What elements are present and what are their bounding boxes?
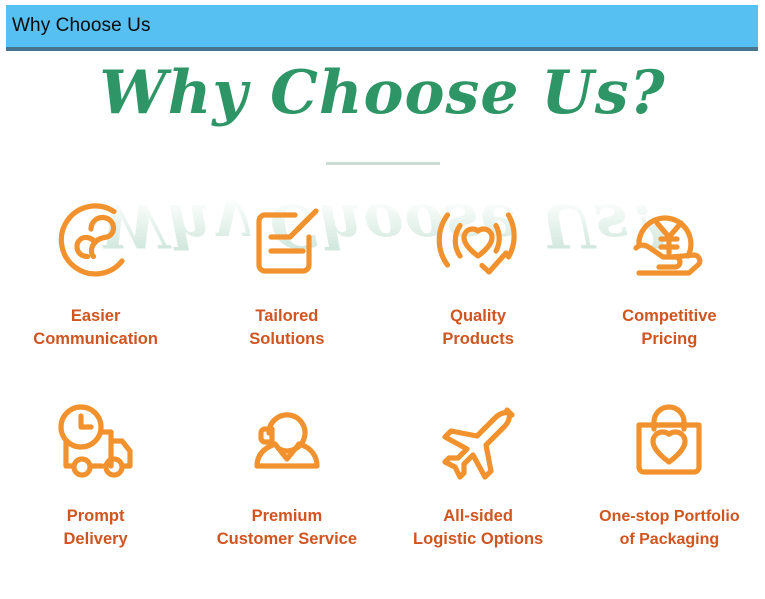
feature-item-easier-communication: Easier Communication: [0, 195, 191, 351]
page-content: Why Choose Us? Why Choose Us? Easier Com…: [0, 55, 765, 599]
airplane-icon: [430, 395, 526, 491]
feature-item-quality-products: Quality Products: [383, 195, 574, 351]
feature-label: Competitive Pricing: [622, 305, 716, 351]
feature-label: Prompt Delivery: [64, 505, 128, 551]
heart-signal-check-icon: [430, 195, 526, 291]
feature-label: Tailored Solutions: [249, 305, 324, 351]
feature-item-all-sided-logistic-options: All-sided Logistic Options: [383, 395, 574, 551]
window-title: Why Choose Us: [6, 15, 151, 37]
feature-item-premium-customer-service: Premium Customer Service: [191, 395, 382, 551]
feature-label: One-stop Portfolio of Packaging: [599, 505, 739, 551]
feature-item-one-stop-portfolio: One-stop Portfolio of Packaging: [574, 395, 765, 551]
feature-label: Premium Customer Service: [217, 505, 357, 551]
document-pencil-icon: [239, 195, 335, 291]
window-title-bar: Why Choose Us: [6, 5, 758, 51]
title-divider: [326, 162, 440, 165]
feature-label: Quality Products: [442, 305, 514, 351]
hand-yen-coin-icon: [621, 195, 717, 291]
hero-section: Why Choose Us? Why Choose Us?: [0, 55, 765, 167]
shopping-bag-heart-icon: [621, 395, 717, 491]
feature-item-prompt-delivery: Prompt Delivery: [0, 395, 191, 551]
truck-clock-icon: [48, 395, 144, 491]
page-title: Why Choose Us?: [0, 57, 765, 129]
feature-item-tailored-solutions: Tailored Solutions: [191, 195, 382, 351]
feature-label: All-sided Logistic Options: [413, 505, 543, 551]
feature-item-competitive-pricing: Competitive Pricing: [574, 195, 765, 351]
ear-listening-icon: [48, 195, 144, 291]
feature-label: Easier Communication: [33, 305, 158, 351]
headset-agent-icon: [239, 395, 335, 491]
feature-grid: Easier Communication Tailored Solutions: [0, 195, 765, 551]
